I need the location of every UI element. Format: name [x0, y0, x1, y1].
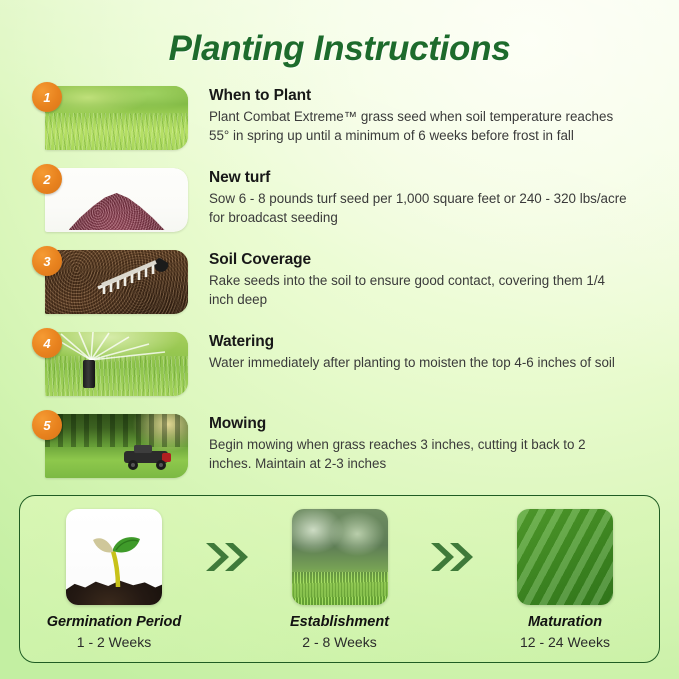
- step-title: New turf: [209, 169, 627, 187]
- step-item: 4 Watering: [0, 332, 679, 414]
- planting-instructions-infographic: Planting Instructions 1 When to Plant Pl…: [0, 0, 679, 679]
- lawn-grass-photo: [45, 86, 188, 150]
- lawn-mower-photo: [45, 414, 188, 478]
- step-item: 2 New turf Sow 6 - 8 pounds turf seed pe…: [0, 168, 679, 250]
- step-item: 5 Mowin: [0, 414, 679, 496]
- water-spray-icon: [45, 332, 188, 396]
- step-number-badge: 4: [32, 328, 62, 358]
- timeline-stage: Germination Period 1 - 2 Weeks: [28, 509, 200, 650]
- young-grass-photo: [292, 509, 388, 605]
- mature-striped-lawn-photo: [517, 509, 613, 605]
- step-number-badge: 1: [32, 82, 62, 112]
- step-text: Watering Water immediately after plantin…: [188, 332, 615, 372]
- step-description: Water immediately after planting to mois…: [209, 353, 615, 372]
- steps-list: 1 When to Plant Plant Combat Extreme™ gr…: [0, 86, 679, 496]
- step-text: New turf Sow 6 - 8 pounds turf seed per …: [188, 168, 627, 227]
- rake-icon: [90, 254, 178, 294]
- double-chevron-right-icon: [200, 509, 254, 605]
- timeline-stage: Establishment 2 - 8 Weeks: [254, 509, 426, 650]
- step-text: Mowing Begin mowing when grass reaches 3…: [188, 414, 627, 473]
- step-title: Watering: [209, 333, 615, 351]
- step-description: Begin mowing when grass reaches 3 inches…: [209, 435, 627, 473]
- step-number-badge: 3: [32, 246, 62, 276]
- rake-on-soil-photo: [45, 250, 188, 314]
- growth-timeline-panel: Germination Period 1 - 2 Weeks Establish…: [19, 495, 660, 663]
- timeline-stage-label: Establishment: [254, 614, 426, 630]
- step-thumbnail-wrap: 1: [45, 86, 188, 150]
- timeline-stage-duration: 1 - 2 Weeks: [28, 634, 200, 650]
- step-thumbnail-wrap: 4: [45, 332, 188, 396]
- mower-icon: [120, 443, 180, 471]
- page-title: Planting Instructions: [0, 0, 679, 69]
- step-thumbnail-wrap: 5: [45, 414, 188, 478]
- timeline-stage-duration: 2 - 8 Weeks: [254, 634, 426, 650]
- step-title: Mowing: [209, 415, 627, 433]
- step-thumbnail-wrap: 3: [45, 250, 188, 314]
- step-thumbnail-wrap: 2: [45, 168, 188, 232]
- sprout-icon: [66, 509, 162, 605]
- step-number-badge: 2: [32, 164, 62, 194]
- timeline-stage-label: Germination Period: [28, 614, 200, 630]
- double-chevron-right-icon: [426, 509, 480, 605]
- timeline-stage-label: Maturation: [479, 614, 651, 630]
- step-text: Soil Coverage Rake seeds into the soil t…: [188, 250, 627, 309]
- step-description: Plant Combat Extreme™ grass seed when so…: [209, 107, 627, 145]
- step-title: Soil Coverage: [209, 251, 627, 269]
- sprinkler-head-icon: [83, 360, 95, 388]
- sprouting-seed-photo: [66, 509, 162, 605]
- sprinkler-photo: [45, 332, 188, 396]
- step-item: 1 When to Plant Plant Combat Extreme™ gr…: [0, 86, 679, 168]
- timeline-stage-duration: 12 - 24 Weeks: [479, 634, 651, 650]
- grass-seed-pile-photo: [45, 168, 188, 232]
- step-text: When to Plant Plant Combat Extreme™ gras…: [188, 86, 627, 145]
- step-description: Sow 6 - 8 pounds turf seed per 1,000 squ…: [209, 189, 627, 227]
- step-item: 3: [0, 250, 679, 332]
- step-description: Rake seeds into the soil to ensure good …: [209, 271, 627, 309]
- timeline-stage: Maturation 12 - 24 Weeks: [479, 509, 651, 650]
- step-title: When to Plant: [209, 87, 627, 105]
- step-number-badge: 5: [32, 410, 62, 440]
